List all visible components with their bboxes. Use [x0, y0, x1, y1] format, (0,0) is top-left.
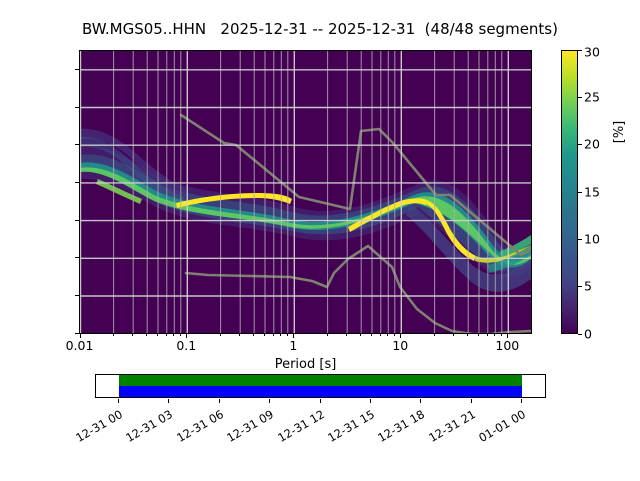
x-tick-minor	[494, 334, 495, 336]
x-tick-minor	[146, 334, 147, 336]
x-tick	[400, 334, 401, 338]
timeline-tick	[168, 399, 169, 403]
colorbar-tick	[578, 286, 582, 287]
colorbar-label: [%]	[612, 72, 627, 192]
x-tick-minor	[173, 334, 174, 336]
y-tick	[75, 295, 79, 296]
x-tick-minor	[346, 334, 347, 336]
colorbar-tick-label: 20	[584, 137, 600, 152]
coverage-bar-blue	[119, 386, 522, 397]
y-tick	[75, 144, 79, 145]
ppsd-heatmap-axes	[79, 50, 532, 334]
timeline-tick	[219, 399, 220, 403]
y-tick	[75, 69, 79, 70]
x-tick-label: 1	[289, 338, 297, 353]
x-tick	[293, 334, 294, 338]
timeline-tick	[118, 399, 119, 403]
timeline-tick	[370, 399, 371, 403]
timeline-tick	[521, 399, 522, 403]
x-tick-label: 100	[495, 338, 519, 353]
x-tick-label: 0.1	[176, 338, 196, 353]
x-tick-label: 10	[392, 338, 408, 353]
data-coverage-timeline[interactable]	[95, 374, 546, 398]
x-tick-minor	[453, 334, 454, 336]
x-tick-minor	[478, 334, 479, 336]
colorbar-tick	[578, 144, 582, 145]
colorbar-tick	[578, 50, 582, 51]
x-tick-minor	[253, 334, 254, 336]
y-tick	[75, 182, 79, 183]
x-tick-minor	[180, 334, 181, 336]
x-tick-minor	[327, 334, 328, 336]
colorbar-tick-label: 5	[584, 279, 592, 294]
x-tick-minor	[280, 334, 281, 336]
x-tick-minor	[487, 334, 488, 336]
y-tick	[75, 333, 79, 334]
x-tick-minor	[113, 334, 114, 336]
timeline-tick	[471, 399, 472, 403]
timeline-tick	[269, 399, 270, 403]
timeline-tick	[320, 399, 321, 403]
x-tick-minor	[387, 334, 388, 336]
timeline-tick	[420, 399, 421, 403]
colorbar-tick	[578, 334, 582, 335]
x-tick-minor	[434, 334, 435, 336]
y-tick	[75, 257, 79, 258]
x-tick-minor	[360, 334, 361, 336]
coverage-bar-green	[119, 375, 522, 386]
x-tick-minor	[132, 334, 133, 336]
x-axis-label: Period [s]	[79, 357, 532, 372]
x-tick-label: 0.01	[66, 338, 94, 353]
x-tick	[186, 334, 187, 338]
x-tick-minor	[371, 334, 372, 336]
colorbar	[561, 50, 578, 334]
x-tick	[507, 334, 508, 338]
x-tick-minor	[239, 334, 240, 336]
x-tick-minor	[394, 334, 395, 336]
colorbar-tick	[578, 192, 582, 193]
colorbar-tick-label: 25	[584, 90, 600, 105]
colorbar-tick-label: 10	[584, 231, 600, 246]
x-tick-minor	[287, 334, 288, 336]
y-tick	[75, 220, 79, 221]
x-tick-minor	[264, 334, 265, 336]
y-tick	[75, 107, 79, 108]
x-tick-minor	[467, 334, 468, 336]
x-tick-minor	[220, 334, 221, 336]
colorbar-tick	[578, 97, 582, 98]
x-tick	[80, 334, 81, 338]
x-tick-minor	[157, 334, 158, 336]
colorbar-tick	[578, 239, 582, 240]
colorbar-tick-label: 30	[584, 45, 600, 60]
ppsd-density-plot	[80, 51, 531, 333]
x-tick-minor	[380, 334, 381, 336]
colorbar-tick-label: 15	[584, 184, 600, 199]
x-tick-minor	[501, 334, 502, 336]
colorbar-tick-label: 0	[584, 326, 592, 341]
page-title: BW.MGS05..HHN 2025-12-31 -- 2025-12-31 (…	[0, 20, 640, 38]
x-tick-minor	[166, 334, 167, 336]
x-tick-minor	[273, 334, 274, 336]
